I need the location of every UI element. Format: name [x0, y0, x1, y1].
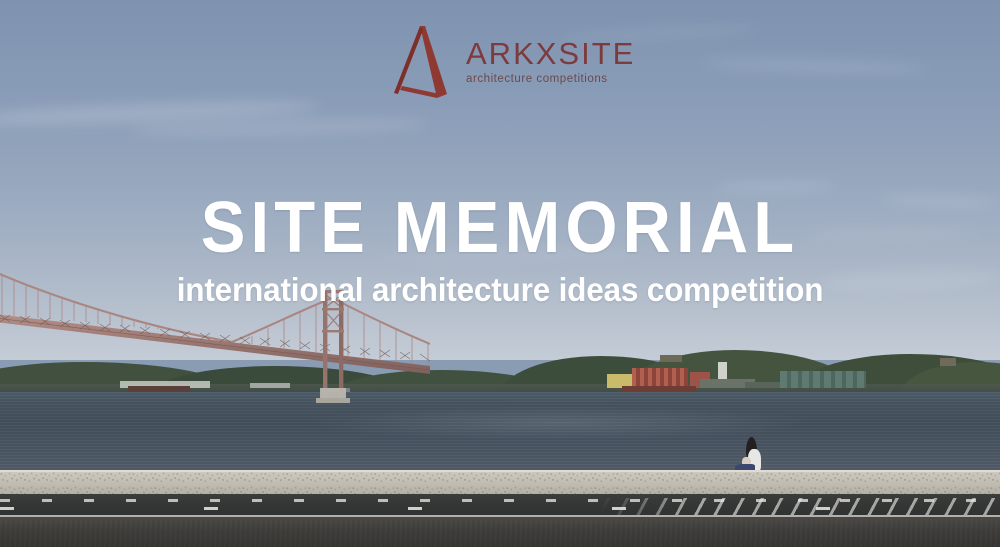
port-silos: [632, 368, 688, 388]
cloud-wisp: [0, 97, 320, 129]
wall-texture: [0, 470, 1000, 494]
cloud-wisp: [130, 116, 430, 137]
port-storage-tanks: [780, 371, 866, 388]
logo-wordmark: ARKXSITE: [466, 38, 635, 69]
foreground-asphalt: [0, 519, 1000, 547]
page-subtitle: international architecture ideas competi…: [23, 273, 978, 306]
promenade-wall: [0, 470, 1000, 494]
arkxsite-logo[interactable]: ARKXSITE architecture competitions: [392, 24, 635, 98]
asphalt-texture: [0, 519, 1000, 547]
competition-poster: ARKXSITE architecture competitions SITE …: [0, 0, 1000, 547]
hilltop-building: [940, 358, 956, 366]
cobblestone-pattern: [600, 498, 1000, 515]
headline-block: SITE MEMORIAL international architecture…: [0, 192, 1000, 306]
cloud-wisp: [700, 57, 930, 75]
road: [0, 494, 1000, 519]
logo-tagline: architecture competitions: [466, 74, 635, 86]
page-title: SITE MEMORIAL: [35, 192, 965, 264]
logo-text-block: ARKXSITE architecture competitions: [466, 24, 635, 86]
hilltop-building: [660, 355, 682, 362]
arkxsite-a-mark: [392, 24, 454, 98]
seated-person: [735, 437, 765, 473]
